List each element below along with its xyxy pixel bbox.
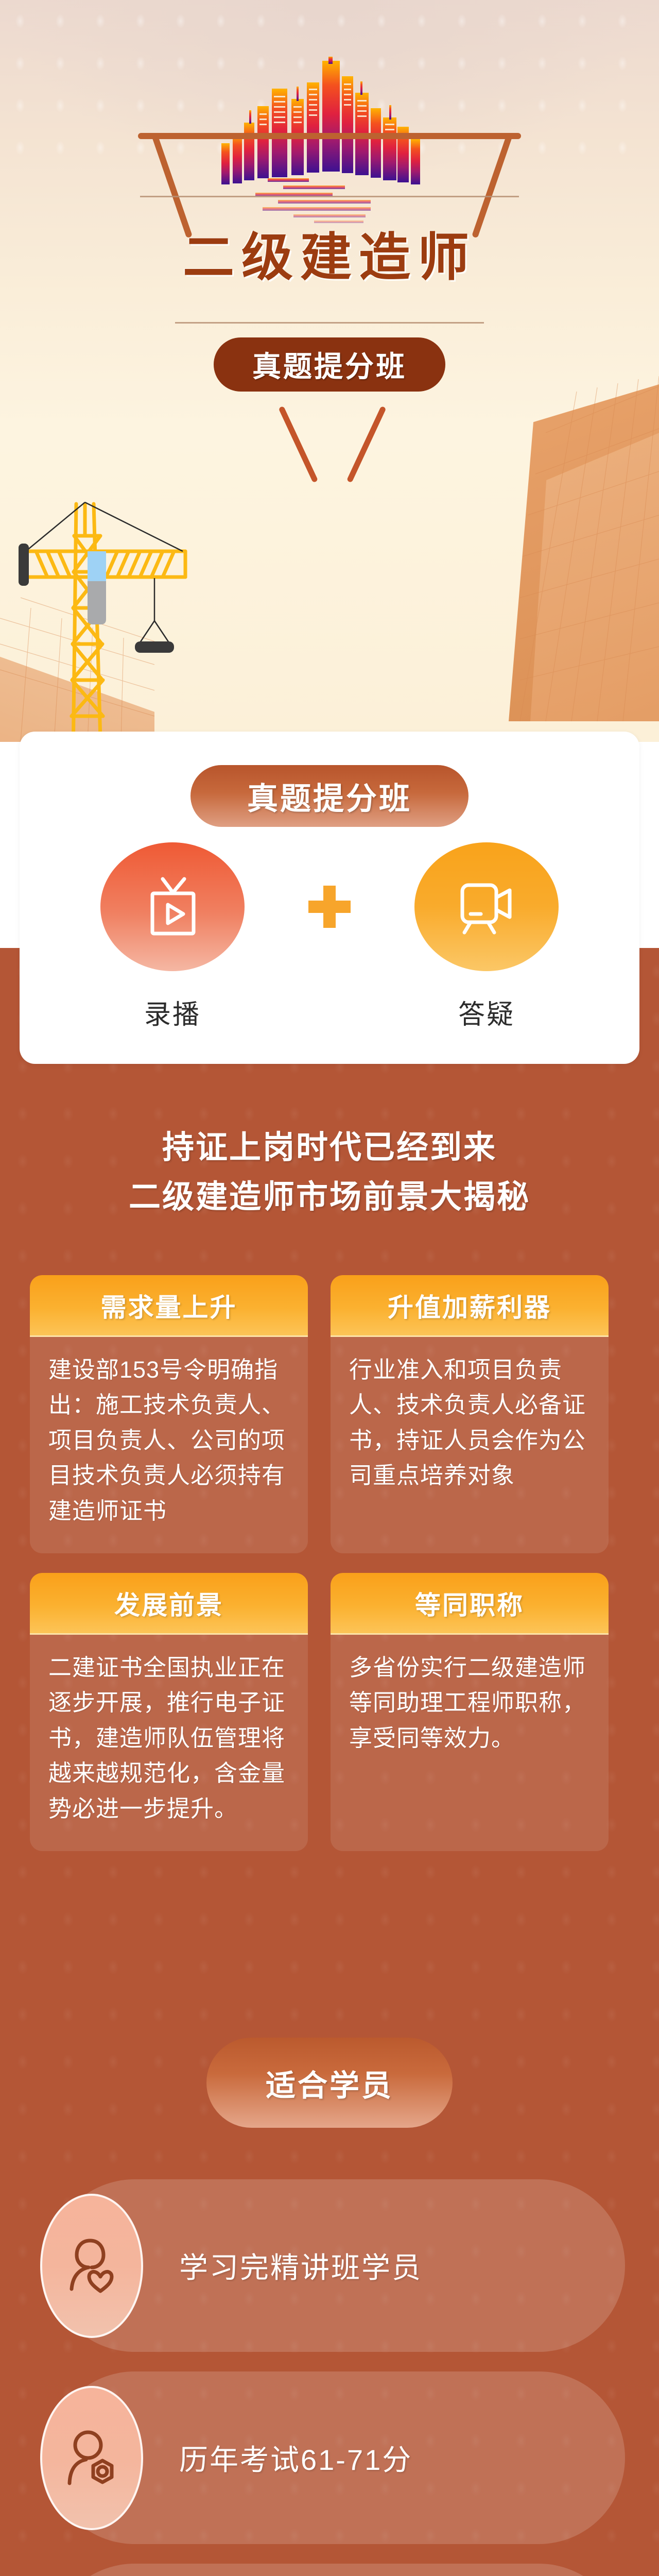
info-card-title: 发展前景 — [114, 1585, 223, 1622]
info-card-header: 发展前景 — [30, 1573, 308, 1635]
hero-badge-label: 真题提分班 — [252, 344, 407, 385]
plus-separator — [301, 842, 358, 971]
course-item-qa[interactable]: 答疑 — [414, 842, 559, 1031]
frame-top-bar — [138, 133, 521, 139]
crane-load — [135, 641, 174, 653]
user-heart-icon-bubble — [40, 2194, 143, 2338]
info-card: 升值加薪利器 行业准入和项目负责人、技术负责人必备证书，持证人员会作为公司重点培… — [331, 1275, 609, 1553]
info-card-header: 升值加薪利器 — [331, 1275, 609, 1337]
list-item-label: 学习完精讲班学员 — [179, 2245, 422, 2286]
recording-icon-bubble — [100, 842, 245, 971]
list-item[interactable]: 单科未通过学员 — [48, 2564, 625, 2576]
info-card-grid: 需求量上升 建设部153号令明确指出：施工技术负责人、项目负责人、公司的项目技术… — [30, 1275, 630, 1851]
user-badge-icon-bubble — [40, 2386, 143, 2530]
info-card-text: 建设部153号令明确指出：施工技术负责人、项目负责人、公司的项目技术负责人必须持… — [48, 1352, 289, 1529]
list-item[interactable]: 学习完精讲班学员 — [48, 2179, 625, 2352]
headline-1: 持证上岗时代已经到来 — [0, 1123, 659, 1173]
hero-section: 二级建造师 真题提分班 — [0, 0, 659, 742]
course-card-items: 录播 答疑 — [20, 842, 639, 1031]
info-card-body: 建设部153号令明确指出：施工技术负责人、项目负责人、公司的项目技术负责人必须持… — [30, 1337, 308, 1553]
course-item-label: 录播 — [100, 993, 245, 1031]
info-card-body: 多省份实行二级建造师等同助理工程师职称，享受同等效力。 — [331, 1635, 609, 1851]
info-card-body: 二建证书全国执业正在逐步开展，推行电子证书，建造师队伍管理将越来越规范化，含金量… — [30, 1635, 308, 1851]
info-card: 等同职称 多省份实行二级建造师等同助理工程师职称，享受同等效力。 — [331, 1573, 609, 1851]
info-card: 发展前景 二建证书全国执业正在逐步开展，推行电子证书，建造师队伍管理将越来越规范… — [30, 1573, 308, 1851]
course-card-badge: 真题提分班 — [190, 765, 469, 827]
list-item[interactable]: 历年考试61-71分 — [48, 2371, 625, 2544]
user-badge-icon — [63, 2428, 120, 2488]
info-card-text: 二建证书全国执业正在逐步开展，推行电子证书，建造师队伍管理将越来越规范化，含金量… — [48, 1650, 289, 1826]
user-heart-icon — [63, 2235, 120, 2296]
info-card-title: 等同职称 — [415, 1585, 524, 1622]
info-card-body: 行业准入和项目负责人、技术负责人必备证书，持证人员会作为公司重点培养对象 — [331, 1337, 609, 1553]
info-card-title: 需求量上升 — [101, 1287, 237, 1324]
suitable-students-list: 学习完精讲班学员 历年考试61-71分 — [48, 2179, 625, 2576]
plus-icon — [308, 886, 351, 928]
tv-play-icon — [142, 875, 203, 939]
frame-rule-bottom — [175, 322, 484, 324]
headline-2: 二级建造师市场前景大揭秘 — [0, 1173, 659, 1222]
suitable-students-badge-label: 适合学员 — [266, 2061, 393, 2105]
video-camera-icon — [453, 875, 520, 939]
info-card-header: 等同职称 — [331, 1573, 609, 1635]
info-card: 需求量上升 建设部153号令明确指出：施工技术负责人、项目负责人、公司的项目技术… — [30, 1275, 308, 1553]
course-card-badge-label: 真题提分班 — [247, 774, 412, 819]
course-item-label: 答疑 — [414, 993, 559, 1031]
info-card-title: 升值加薪利器 — [388, 1287, 551, 1324]
qa-icon-bubble — [414, 842, 559, 971]
crane-counterweight — [19, 544, 29, 586]
page-title: 二级建造师 — [0, 215, 659, 290]
poster-page: 二级建造师 真题提分班 — [0, 0, 659, 2576]
info-card-text: 多省份实行二级建造师等同助理工程师职称，享受同等效力。 — [349, 1650, 590, 1756]
headline-block: 持证上岗时代已经到来 二级建造师市场前景大揭秘 — [0, 1123, 659, 1222]
course-item-recording[interactable]: 录播 — [100, 842, 245, 1031]
tower-crane-icon — [15, 448, 407, 742]
info-card-header: 需求量上升 — [30, 1275, 308, 1337]
city-skyline-icon — [206, 57, 453, 227]
list-item-label: 历年考试61-71分 — [179, 2437, 412, 2479]
hero-badge: 真题提分班 — [214, 337, 445, 392]
frame-rule-top — [140, 196, 519, 197]
info-card-text: 行业准入和项目负责人、技术负责人必备证书，持证人员会作为公司重点培养对象 — [349, 1352, 590, 1494]
course-card: 真题提分班 录播 — [20, 732, 639, 1064]
suitable-students-badge: 适合学员 — [206, 2038, 453, 2128]
